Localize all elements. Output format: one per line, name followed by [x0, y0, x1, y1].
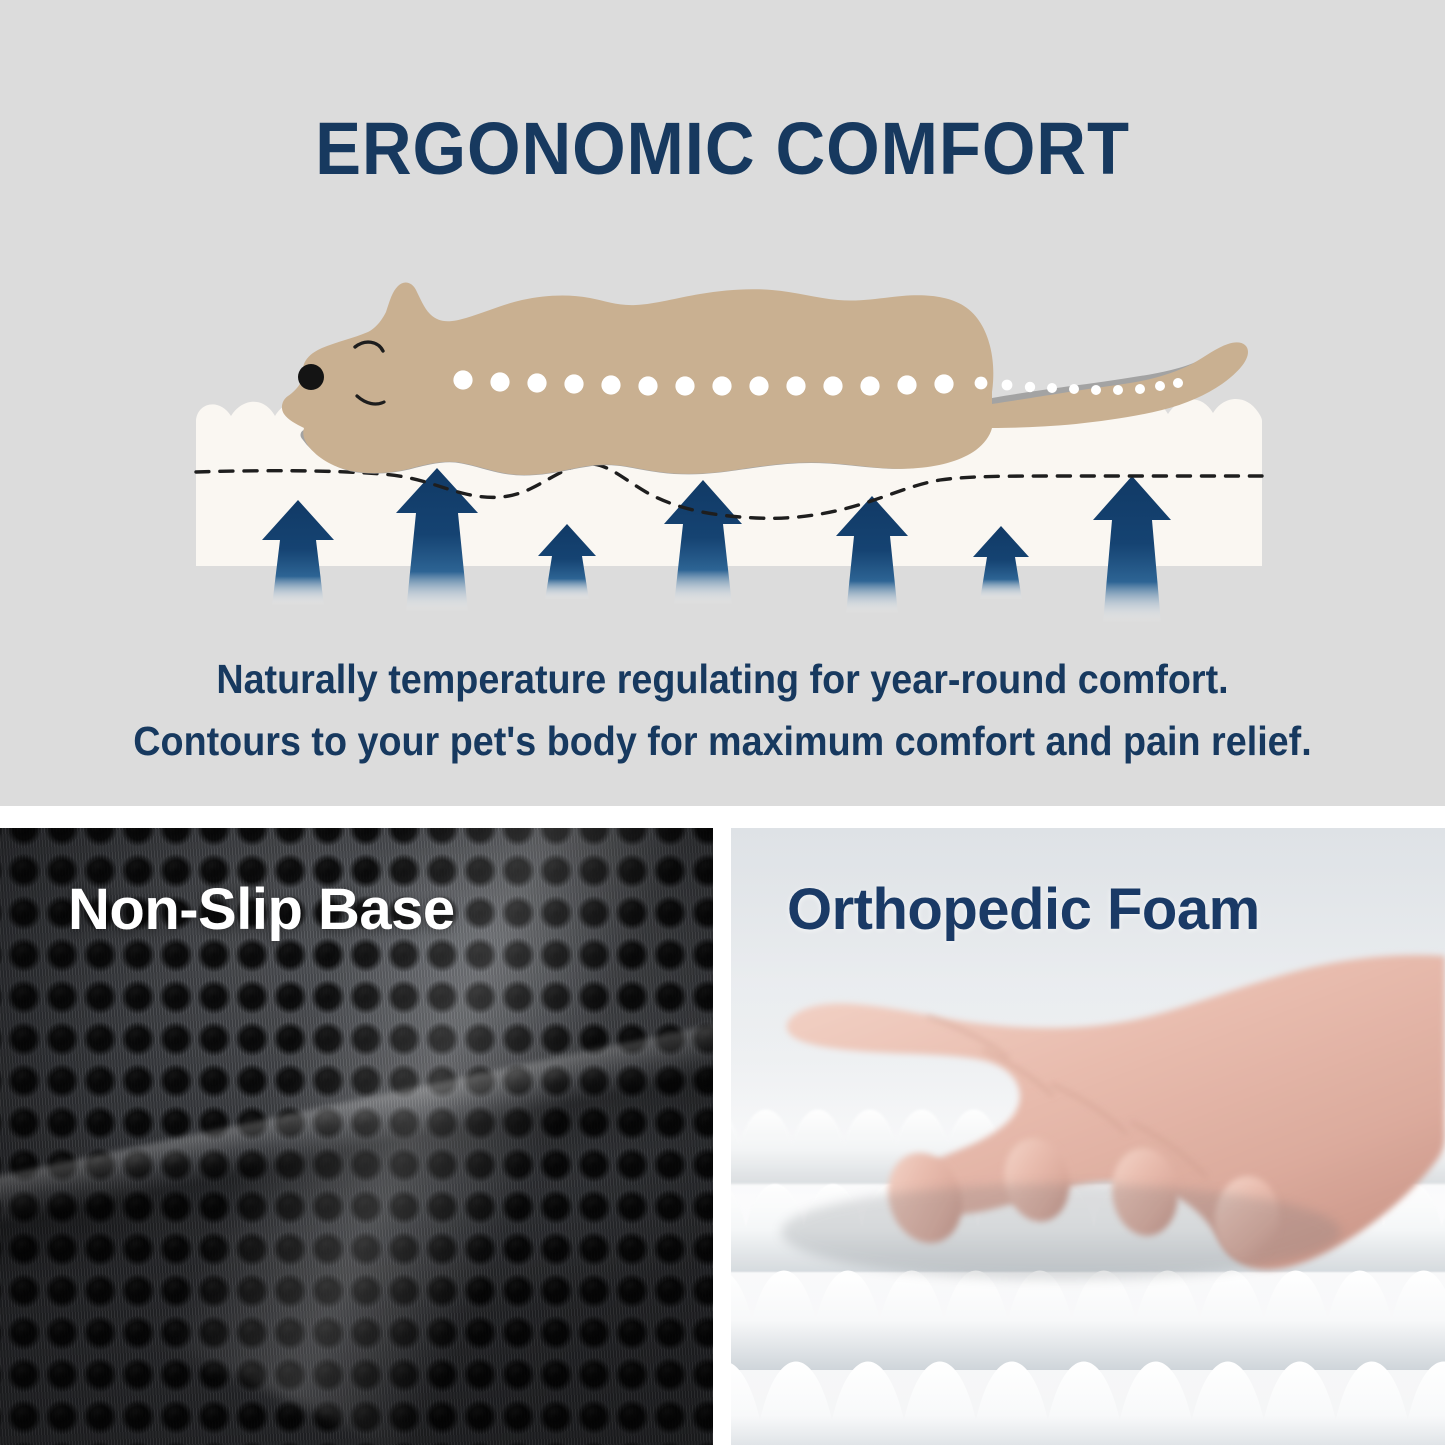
ergonomic-illustration — [0, 0, 1445, 660]
ergonomic-comfort-section: ERGONOMIC COMFORT — [0, 0, 1445, 806]
panel-label-orthopedic-foam: Orthopedic Foam — [787, 878, 1260, 942]
panel-orthopedic-foam: Orthopedic Foam — [731, 828, 1445, 1445]
caption-line-1: Naturally temperature regulating for yea… — [58, 648, 1387, 710]
divider-vertical — [713, 806, 731, 1445]
caption-block: Naturally temperature regulating for yea… — [0, 648, 1445, 772]
infographic-page: ERGONOMIC COMFORT — [0, 0, 1445, 1445]
panel-label-non-slip-base: Non-Slip Base — [68, 878, 455, 942]
caption-line-2: Contours to your pet's body for maximum … — [58, 710, 1387, 772]
panel-non-slip-base: Non-Slip Base — [0, 828, 713, 1445]
pet-nose — [298, 364, 324, 390]
